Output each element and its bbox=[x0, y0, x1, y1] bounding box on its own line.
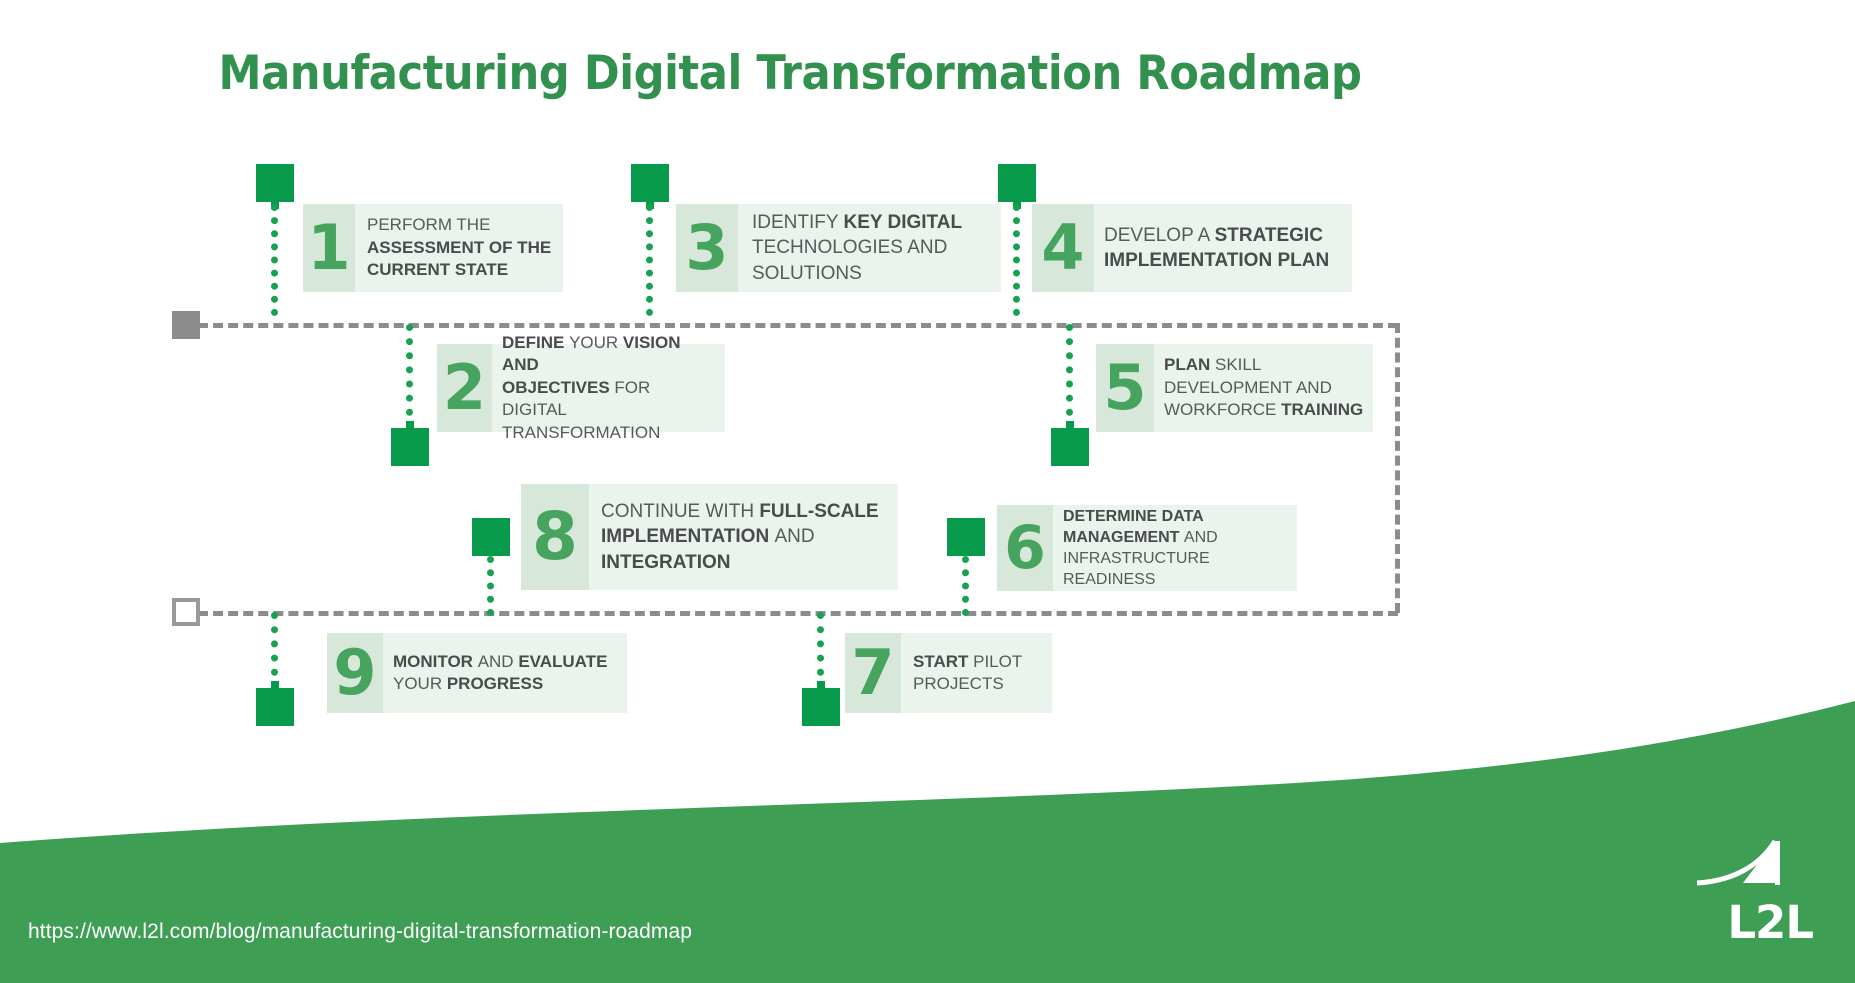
connector-line-4 bbox=[1013, 204, 1020, 316]
step-text-8: CONTINUE WITH FULL-SCALE IMPLEMENTATION … bbox=[589, 484, 898, 590]
connector-line-8 bbox=[487, 556, 494, 616]
step-number-5: 5 bbox=[1096, 344, 1154, 432]
connector-marker-5 bbox=[1051, 428, 1089, 466]
step-card-9[interactable]: 9 MONITOR AND EVALUATE YOUR PROGRESS bbox=[327, 633, 627, 713]
connector-marker-4 bbox=[998, 164, 1036, 202]
logo-text: L2L bbox=[1727, 896, 1813, 949]
connector-line-6 bbox=[962, 556, 969, 616]
step-text-9: MONITOR AND EVALUATE YOUR PROGRESS bbox=[383, 633, 627, 713]
step-text-1: PERFORM THE ASSESSMENT OF THE CURRENT ST… bbox=[355, 204, 563, 292]
connector-line-9 bbox=[271, 612, 278, 690]
connector-line-2 bbox=[406, 324, 413, 430]
step-number-7: 7 bbox=[845, 633, 901, 713]
step-card-7[interactable]: 7 START PILOT PROJECTS bbox=[845, 633, 1052, 713]
step-number-6: 6 bbox=[997, 505, 1053, 591]
step-text-7: START PILOT PROJECTS bbox=[901, 633, 1052, 713]
connector-marker-2 bbox=[391, 428, 429, 466]
step-card-6[interactable]: 6 DETERMINE DATA MANAGEMENT AND INFRASTR… bbox=[997, 505, 1297, 591]
connector-marker-9 bbox=[256, 688, 294, 726]
step-text-5: PLAN SKILL DEVELOPMENT AND WORKFORCE TRA… bbox=[1154, 344, 1373, 432]
connector-line-3 bbox=[646, 204, 653, 316]
step-card-4[interactable]: 4 DEVELOP A STRATEGIC IMPLEMENTATION PLA… bbox=[1032, 204, 1352, 292]
path-segment-bottom bbox=[198, 611, 1398, 616]
step-card-8[interactable]: 8 CONTINUE WITH FULL-SCALE IMPLEMENTATIO… bbox=[521, 484, 898, 590]
connector-marker-1 bbox=[256, 164, 294, 202]
step-card-3[interactable]: 3 IDENTIFY KEY DIGITAL TECHNOLOGIES AND … bbox=[676, 204, 1001, 292]
step-text-2: DEFINE YOUR VISION AND OBJECTIVES FOR DI… bbox=[492, 344, 725, 432]
step-number-8: 8 bbox=[521, 484, 589, 590]
connector-line-7 bbox=[817, 612, 824, 690]
footer-url[interactable]: https://www.l2l.com/blog/manufacturing-d… bbox=[28, 920, 692, 944]
step-text-6: DETERMINE DATA MANAGEMENT AND INFRASTRUC… bbox=[1053, 505, 1297, 591]
page-title: Manufacturing Digital Transformation Roa… bbox=[63, 46, 1517, 101]
step-number-2: 2 bbox=[437, 344, 492, 432]
connector-marker-7 bbox=[802, 688, 840, 726]
step-number-4: 4 bbox=[1032, 204, 1094, 292]
path-start-marker bbox=[172, 311, 200, 339]
path-end-marker bbox=[172, 598, 200, 626]
connector-marker-6 bbox=[947, 518, 985, 556]
path-segment-top bbox=[198, 323, 1398, 328]
step-card-2[interactable]: 2 DEFINE YOUR VISION AND OBJECTIVES FOR … bbox=[437, 344, 725, 432]
path-segment-right bbox=[1395, 323, 1400, 613]
step-text-3: IDENTIFY KEY DIGITAL TECHNOLOGIES AND SO… bbox=[738, 204, 1001, 292]
step-number-3: 3 bbox=[676, 204, 738, 292]
step-number-9: 9 bbox=[327, 633, 383, 713]
step-card-5[interactable]: 5 PLAN SKILL DEVELOPMENT AND WORKFORCE T… bbox=[1096, 344, 1373, 432]
step-text-4: DEVELOP A STRATEGIC IMPLEMENTATION PLAN bbox=[1094, 204, 1352, 292]
step-card-1[interactable]: 1 PERFORM THE ASSESSMENT OF THE CURRENT … bbox=[303, 204, 563, 292]
connector-marker-3 bbox=[631, 164, 669, 202]
step-number-1: 1 bbox=[303, 204, 355, 292]
connector-line-1 bbox=[271, 204, 278, 316]
connector-marker-8 bbox=[472, 518, 510, 556]
connector-line-5 bbox=[1066, 324, 1073, 430]
